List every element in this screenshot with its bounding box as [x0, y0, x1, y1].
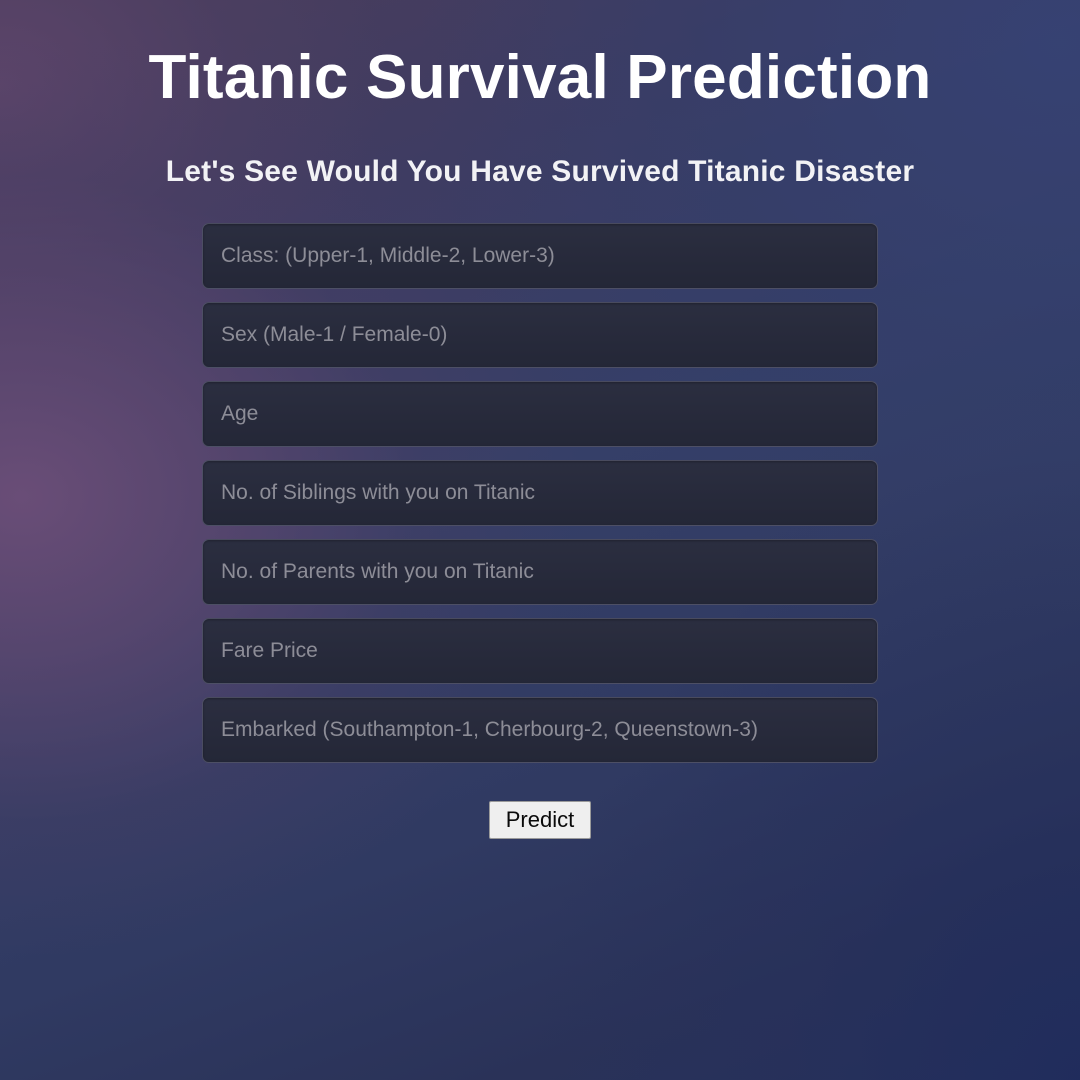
input-parents[interactable]	[202, 539, 878, 605]
form-actions: Predict	[202, 776, 878, 839]
app-root: Titanic Survival Prediction Let's See Wo…	[0, 0, 1080, 1080]
input-pclass[interactable]	[202, 223, 878, 289]
input-embarked[interactable]	[202, 697, 878, 763]
prediction-form: Predict	[202, 192, 878, 839]
input-fare[interactable]	[202, 618, 878, 684]
input-sex[interactable]	[202, 302, 878, 368]
page-subtitle: Let's See Would You Have Survived Titani…	[0, 119, 1080, 192]
predict-button[interactable]: Predict	[489, 801, 591, 839]
input-age[interactable]	[202, 381, 878, 447]
input-siblings[interactable]	[202, 460, 878, 526]
page-title: Titanic Survival Prediction	[0, 0, 1080, 119]
